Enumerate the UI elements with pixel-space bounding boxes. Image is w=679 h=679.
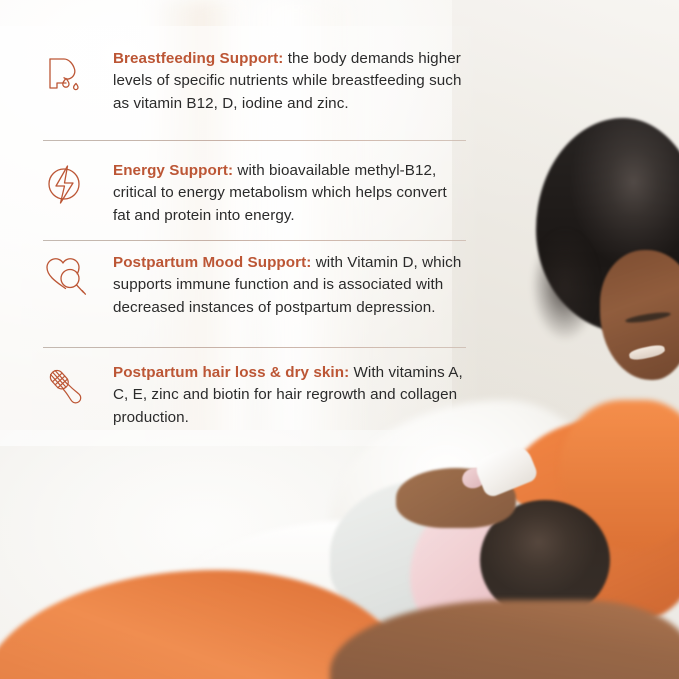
benefit-item-energy-support: Energy Support: with bioavailable methyl… xyxy=(43,160,467,227)
lightning-bolt-circle-icon xyxy=(43,160,113,206)
benefit-divider-1 xyxy=(43,140,466,141)
benefit-text: Energy Support: with bioavailable methyl… xyxy=(113,160,467,227)
promo-graphic: Breastfeeding Support: the body demands … xyxy=(0,0,679,679)
benefit-heading: Breastfeeding Support: xyxy=(113,50,283,67)
benefits-panel: Breastfeeding Support: the body demands … xyxy=(0,0,679,679)
benefit-divider-3 xyxy=(43,347,466,348)
hairbrush-icon xyxy=(43,362,113,408)
breast-milk-drop-icon xyxy=(43,48,113,98)
benefit-text: Postpartum hair loss & dry skin: With vi… xyxy=(113,362,467,429)
benefit-heading: Energy Support: xyxy=(113,162,233,179)
benefit-item-breastfeeding-support: Breastfeeding Support: the body demands … xyxy=(43,48,467,115)
benefit-divider-2 xyxy=(43,240,466,241)
benefit-item-postpartum-mood-support: Postpartum Mood Support: with Vitamin D,… xyxy=(43,252,467,319)
benefit-heading: Postpartum Mood Support: xyxy=(113,254,311,271)
benefit-text: Postpartum Mood Support: with Vitamin D,… xyxy=(113,252,467,319)
benefit-item-hair-loss-dry-skin: Postpartum hair loss & dry skin: With vi… xyxy=(43,362,467,429)
heart-magnifier-icon xyxy=(43,252,113,298)
benefit-text: Breastfeeding Support: the body demands … xyxy=(113,48,467,115)
benefit-heading: Postpartum hair loss & dry skin: xyxy=(113,364,349,381)
